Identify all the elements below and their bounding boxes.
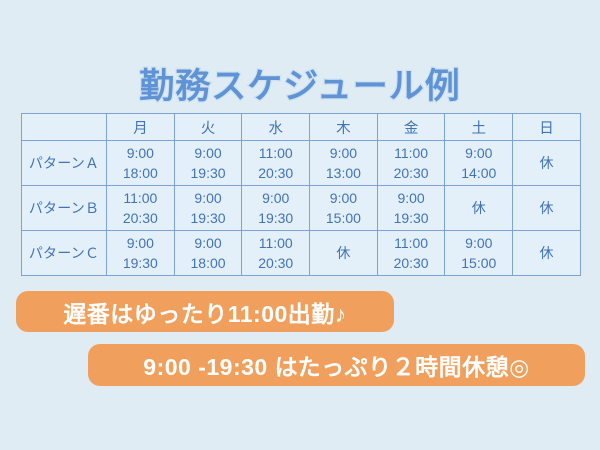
- cell-a-sun-rest: 休: [513, 141, 581, 186]
- cell-b-sat-rest: 休: [445, 186, 513, 231]
- header-corner: [22, 114, 107, 141]
- header-row: 月 火 水 木 金 土 日: [22, 114, 581, 141]
- page-title: 勤務スケジュール例: [0, 58, 600, 109]
- header-day-tue: 火: [174, 114, 242, 141]
- header-day-thu: 木: [310, 114, 378, 141]
- shift-end: 13:00: [311, 163, 376, 183]
- table-row: パターンＢ 11:00 20:30 9:00 19:30 9:00 19:30 …: [22, 186, 581, 231]
- shift-start: 9:00: [446, 233, 511, 253]
- row-label-pattern-b: パターンＢ: [22, 186, 107, 231]
- table-row: パターンＣ 9:00 19:30 9:00 18:00 11:00 20:30 …: [22, 231, 581, 276]
- banner-break-time: 9:00 -19:30 はたっぷり２時間休憩◎: [88, 344, 585, 386]
- header-day-sun: 日: [513, 114, 581, 141]
- shift-start: 9:00: [176, 188, 241, 208]
- cell-c-mon: 9:00 19:30: [107, 231, 175, 276]
- header-day-sat: 土: [445, 114, 513, 141]
- row-label-pattern-c: パターンＣ: [22, 231, 107, 276]
- shift-start: 11:00: [108, 188, 173, 208]
- shift-end: 15:00: [446, 253, 511, 273]
- shift-start: 9:00: [108, 143, 173, 163]
- shift-start: 9:00: [311, 143, 376, 163]
- shift-end: 19:30: [108, 253, 173, 273]
- shift-end: 19:30: [176, 208, 241, 228]
- header-day-fri: 金: [377, 114, 445, 141]
- cell-b-fri: 9:00 19:30: [377, 186, 445, 231]
- table-body: パターンＡ 9:00 18:00 9:00 19:30 11:00 20:30 …: [22, 141, 581, 276]
- cell-a-thu: 9:00 13:00: [310, 141, 378, 186]
- cell-c-sat: 9:00 15:00: [445, 231, 513, 276]
- header-day-mon: 月: [107, 114, 175, 141]
- shift-end: 18:00: [176, 253, 241, 273]
- shift-start: 9:00: [311, 188, 376, 208]
- shift-start: 9:00: [176, 233, 241, 253]
- cell-b-sun-rest: 休: [513, 186, 581, 231]
- table-row: パターンＡ 9:00 18:00 9:00 19:30 11:00 20:30 …: [22, 141, 581, 186]
- shift-start: 9:00: [176, 143, 241, 163]
- shift-start: 9:00: [108, 233, 173, 253]
- cell-c-wed: 11:00 20:30: [242, 231, 310, 276]
- shift-end: 20:30: [379, 253, 444, 273]
- shift-start: 11:00: [379, 143, 444, 163]
- shift-end: 14:00: [446, 163, 511, 183]
- shift-end: 19:30: [243, 208, 308, 228]
- cell-b-mon: 11:00 20:30: [107, 186, 175, 231]
- table-header: 月 火 水 木 金 土 日: [22, 114, 581, 141]
- shift-end: 19:30: [176, 163, 241, 183]
- cell-a-mon: 9:00 18:00: [107, 141, 175, 186]
- header-day-wed: 水: [242, 114, 310, 141]
- shift-end: 19:30: [379, 208, 444, 228]
- cell-b-wed: 9:00 19:30: [242, 186, 310, 231]
- cell-c-fri: 11:00 20:30: [377, 231, 445, 276]
- cell-a-tue: 9:00 19:30: [174, 141, 242, 186]
- cell-a-fri: 11:00 20:30: [377, 141, 445, 186]
- cell-c-tue: 9:00 18:00: [174, 231, 242, 276]
- shift-start: 11:00: [243, 233, 308, 253]
- cell-b-tue: 9:00 19:30: [174, 186, 242, 231]
- shift-end: 18:00: [108, 163, 173, 183]
- shift-start: 11:00: [243, 143, 308, 163]
- shift-start: 9:00: [379, 188, 444, 208]
- cell-b-thu: 9:00 15:00: [310, 186, 378, 231]
- shift-end: 20:30: [108, 208, 173, 228]
- shift-start: 9:00: [243, 188, 308, 208]
- shift-start: 11:00: [379, 233, 444, 253]
- shift-end: 20:30: [243, 163, 308, 183]
- shift-end: 20:30: [243, 253, 308, 273]
- banner-late-shift: 遅番はゆったり11:00出勤♪: [16, 291, 394, 332]
- cell-c-thu-rest: 休: [310, 231, 378, 276]
- cell-a-wed: 11:00 20:30: [242, 141, 310, 186]
- shift-start: 9:00: [446, 143, 511, 163]
- schedule-table: 月 火 水 木 金 土 日 パターンＡ 9:00 18:00 9:00 19:3…: [21, 113, 581, 276]
- cell-c-sun-rest: 休: [513, 231, 581, 276]
- schedule-table-container: 月 火 水 木 金 土 日 パターンＡ 9:00 18:00 9:00 19:3…: [21, 113, 580, 276]
- row-label-pattern-a: パターンＡ: [22, 141, 107, 186]
- shift-end: 20:30: [379, 163, 444, 183]
- shift-end: 15:00: [311, 208, 376, 228]
- cell-a-sat: 9:00 14:00: [445, 141, 513, 186]
